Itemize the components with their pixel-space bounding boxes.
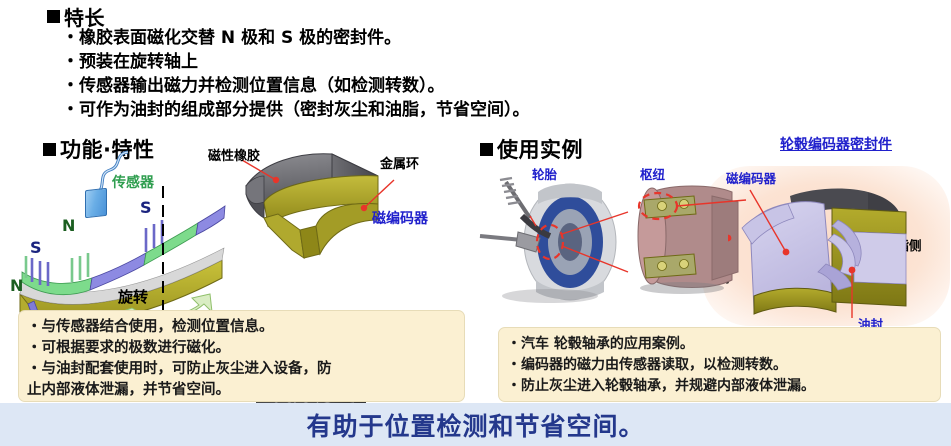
label-magnetic-encoder: 磁编码器 — [372, 208, 428, 228]
callout-line: 编码器的磁力由传感器读取，以检测转数。 — [507, 355, 932, 376]
left-callout-box: 与传感器结合使用，检测位置信息。 可根据要求的极数进行磁化。 与油封配套使用时，… — [18, 310, 465, 402]
magnetic-encoder-3d-illustration — [228, 146, 403, 266]
features-list: 橡胶表面磁化交替 N 极和 S 极的密封件。 预装在旋转轴上 传感器输出磁力并检… — [62, 26, 530, 122]
pole-label-n: N — [10, 276, 23, 295]
label-metal-ring: 金属环 — [380, 153, 419, 172]
list-item: 传感器输出磁力并检测位置信息（如检测转数）。 — [62, 74, 530, 98]
hub-encoder-seal-title: 轮毂编码器密封件 — [780, 134, 892, 154]
list-item: 预装在旋转轴上 — [62, 50, 530, 74]
rotation-label: 旋转 — [118, 286, 148, 307]
callout-line: 止内部液体泄漏，并节省空间。 — [27, 380, 456, 401]
slide-page: 特长 橡胶表面磁化交替 N 极和 S 极的密封件。 预装在旋转轴上 传感器输出磁… — [0, 0, 951, 446]
bullet-square-icon — [47, 10, 60, 23]
callout-line: 汽车 轮毂轴承的应用案例。 — [507, 334, 932, 355]
axis-dash-line — [162, 186, 164, 314]
bullet-square-icon — [480, 143, 493, 156]
callout-line: 可根据要求的极数进行磁化。 — [27, 338, 456, 359]
right-panel-heading: 使用实例 — [480, 134, 583, 164]
encoder-seal-crosssection — [728, 178, 928, 326]
pole-label-s: S — [140, 198, 152, 217]
bottom-banner: 有助于位置检测和节省空间。 — [0, 403, 951, 446]
pole-label-n: N — [62, 216, 75, 235]
features-section: 特长 橡胶表面磁化交替 N 极和 S 极的密封件。 预装在旋转轴上 传感器输出磁… — [0, 0, 951, 128]
pole-label-s: S — [30, 238, 42, 257]
list-item: 可作为油封的组成部分提供（密封灰尘和油脂，节省空间）。 — [62, 98, 530, 122]
callout-line: 与油封配套使用时，可防止灰尘进入设备，防 — [27, 359, 456, 380]
list-item: 橡胶表面磁化交替 N 极和 S 极的密封件。 — [62, 26, 530, 50]
bullet-square-icon — [43, 143, 56, 156]
right-callout-box: 汽车 轮毂轴承的应用案例。 编码器的磁力由传感器读取，以检测转数。 防止灰尘进入… — [498, 327, 941, 402]
callout-line: 与传感器结合使用，检测位置信息。 — [27, 317, 456, 338]
right-panel-heading-text: 使用实例 — [497, 134, 583, 164]
banner-text: 有助于位置检测和节省空间。 — [306, 407, 644, 443]
callout-line: 防止灰尘进入轮毂轴承，并规避内部液体泄漏。 — [507, 376, 932, 397]
label-magnetic-rubber: 磁性橡胶 — [208, 145, 260, 164]
wheel-suspension-illustration — [478, 176, 653, 304]
